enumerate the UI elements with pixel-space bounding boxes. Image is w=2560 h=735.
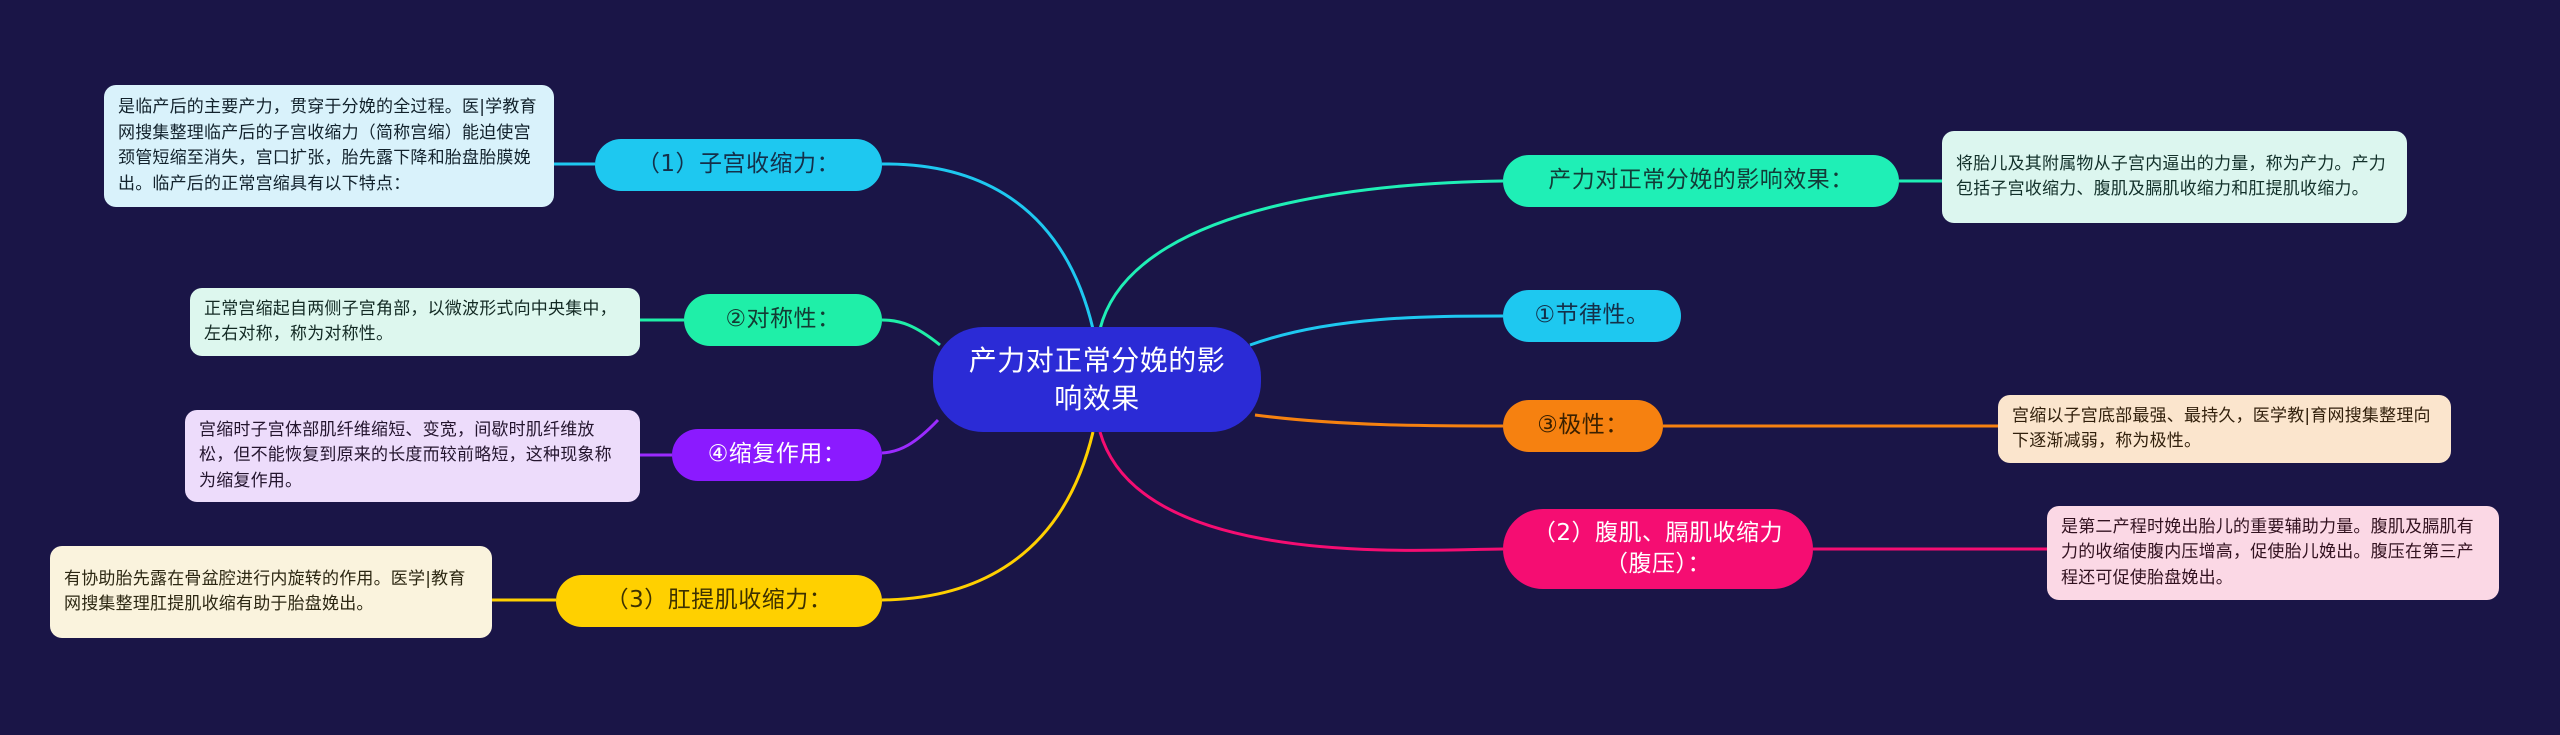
leaf-box-retraction[interactable]: 宫缩时子宫体部肌纤维缩短、变宽，间歇时肌纤维放松，但不能恢复到原来的长度而较前略…: [185, 410, 640, 502]
link-effect: [1100, 181, 1503, 329]
leaf-box-uterine-text: 是临产后的主要产力，贯穿于分娩的全过程。医|学教育网搜集整理临产后的子宫收缩力（…: [118, 95, 540, 197]
leaf-box-symmetry-text: 正常宫缩起自两侧子宫角部，以微波形式向中央集中，左右对称，称为对称性。: [204, 297, 626, 348]
leaf-box-abdominal-text: 是第二产程时娩出胎儿的重要辅助力量。腹肌及膈肌有力的收缩使腹内压增高，促使胎儿娩…: [2061, 515, 2485, 592]
central-node[interactable]: 产力对正常分娩的影响效果: [933, 327, 1261, 432]
branch-node-polarity[interactable]: ③极性：: [1503, 400, 1663, 452]
leaf-box-effect-text: 将胎儿及其附属物从子宫内逼出的力量，称为产力。产力包括子宫收缩力、腹肌及膈肌收缩…: [1956, 152, 2393, 203]
leaf-box-abdominal[interactable]: 是第二产程时娩出胎儿的重要辅助力量。腹肌及膈肌有力的收缩使腹内压增高，促使胎儿娩…: [2047, 506, 2499, 600]
link-polarity: [1255, 415, 1503, 426]
branch-node-abdominal-label: （2）腹肌、膈肌收缩力（腹压）：: [1521, 518, 1795, 580]
leaf-box-polarity[interactable]: 宫缩以子宫底部最强、最持久，医学教|育网搜集整理向下逐渐减弱，称为极性。: [1998, 395, 2451, 463]
leaf-box-retraction-text: 宫缩时子宫体部肌纤维缩短、变宽，间歇时肌纤维放松，但不能恢复到原来的长度而较前略…: [199, 418, 626, 495]
branch-node-abdominal[interactable]: （2）腹肌、膈肌收缩力（腹压）：: [1503, 509, 1813, 589]
link-uterine: [882, 164, 1093, 329]
branch-node-effect[interactable]: 产力对正常分娩的影响效果：: [1503, 155, 1899, 207]
branch-node-symmetry-label: ②对称性：: [725, 304, 840, 335]
link-symmetry: [882, 320, 940, 345]
branch-node-symmetry[interactable]: ②对称性：: [684, 294, 882, 346]
branch-node-uterine-label: （1）子宫收缩力：: [637, 149, 840, 180]
link-rhythm: [1250, 316, 1503, 345]
link-abdominal: [1100, 432, 1503, 550]
mindmap-canvas: 产力对正常分娩的影响效果 （1）子宫收缩力： ②对称性： ④缩复作用： （3）肛…: [0, 0, 2560, 735]
branch-node-levator[interactable]: （3）肛提肌收缩力：: [556, 575, 882, 627]
branch-node-effect-label: 产力对正常分娩的影响效果：: [1548, 165, 1854, 196]
branch-node-uterine[interactable]: （1）子宫收缩力：: [595, 139, 882, 191]
link-retraction: [882, 420, 938, 453]
leaf-box-uterine[interactable]: 是临产后的主要产力，贯穿于分娩的全过程。医|学教育网搜集整理临产后的子宫收缩力（…: [104, 85, 554, 207]
leaf-box-levator-text: 有协助胎先露在骨盆腔进行内旋转的作用。医学|教育网搜集整理肛提肌收缩有助于胎盘娩…: [64, 567, 478, 618]
branch-node-polarity-label: ③极性：: [1537, 410, 1629, 441]
leaf-box-effect[interactable]: 将胎儿及其附属物从子宫内逼出的力量，称为产力。产力包括子宫收缩力、腹肌及膈肌收缩…: [1942, 131, 2407, 223]
leaf-box-levator[interactable]: 有协助胎先露在骨盆腔进行内旋转的作用。医学|教育网搜集整理肛提肌收缩有助于胎盘娩…: [50, 546, 492, 638]
central-node-label: 产力对正常分娩的影响效果: [959, 342, 1235, 418]
branch-node-retraction-label: ④缩复作用：: [708, 439, 847, 470]
branch-node-rhythm-label: ①节律性。: [1534, 300, 1649, 331]
leaf-box-polarity-text: 宫缩以子宫底部最强、最持久，医学教|育网搜集整理向下逐渐减弱，称为极性。: [2012, 404, 2437, 455]
link-levator: [882, 432, 1093, 600]
branch-node-retraction[interactable]: ④缩复作用：: [672, 429, 882, 481]
branch-node-rhythm[interactable]: ①节律性。: [1503, 290, 1681, 342]
branch-node-levator-label: （3）肛提肌收缩力：: [606, 585, 833, 616]
leaf-box-symmetry[interactable]: 正常宫缩起自两侧子宫角部，以微波形式向中央集中，左右对称，称为对称性。: [190, 288, 640, 356]
